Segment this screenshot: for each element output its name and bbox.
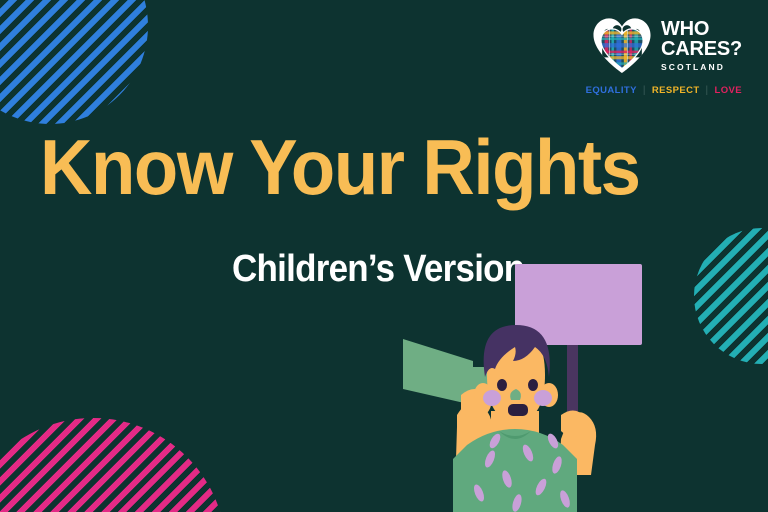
child-with-megaphone-and-protest-sign-illustration [395, 255, 705, 512]
striped-circle-teal-icon [694, 228, 768, 364]
cover-canvas: WHO CARES? SCOTLAND EQUALITY | RESPECT |… [0, 0, 768, 512]
who-cares-scotland-heart-logo-icon [591, 14, 653, 76]
page-title: Know Your Rights [40, 128, 640, 206]
logo-line-who: WHO [661, 19, 742, 39]
logo-line-scotland: SCOTLAND [661, 63, 742, 72]
striped-circle-blue-icon [0, 0, 148, 124]
tagline-respect: RESPECT [652, 85, 700, 96]
left-blush [483, 390, 501, 406]
tagline-equality: EQUALITY [586, 85, 637, 96]
logo-lockup: WHO CARES? SCOTLAND [582, 14, 742, 76]
mouth [508, 404, 528, 416]
logo-wordmark: WHO CARES? SCOTLAND [661, 19, 742, 71]
left-eye [497, 379, 507, 391]
brand-logo-block: WHO CARES? SCOTLAND EQUALITY | RESPECT |… [582, 14, 742, 96]
logo-line-cares: CARES? [661, 39, 742, 59]
right-eye [528, 379, 538, 391]
brand-tagline: EQUALITY | RESPECT | LOVE [582, 85, 742, 96]
tagline-love: LOVE [715, 85, 742, 96]
tagline-separator-2: | [706, 85, 709, 96]
right-blush [534, 390, 552, 406]
tagline-separator-1: | [643, 85, 646, 96]
striped-circle-pink-icon [0, 418, 226, 512]
